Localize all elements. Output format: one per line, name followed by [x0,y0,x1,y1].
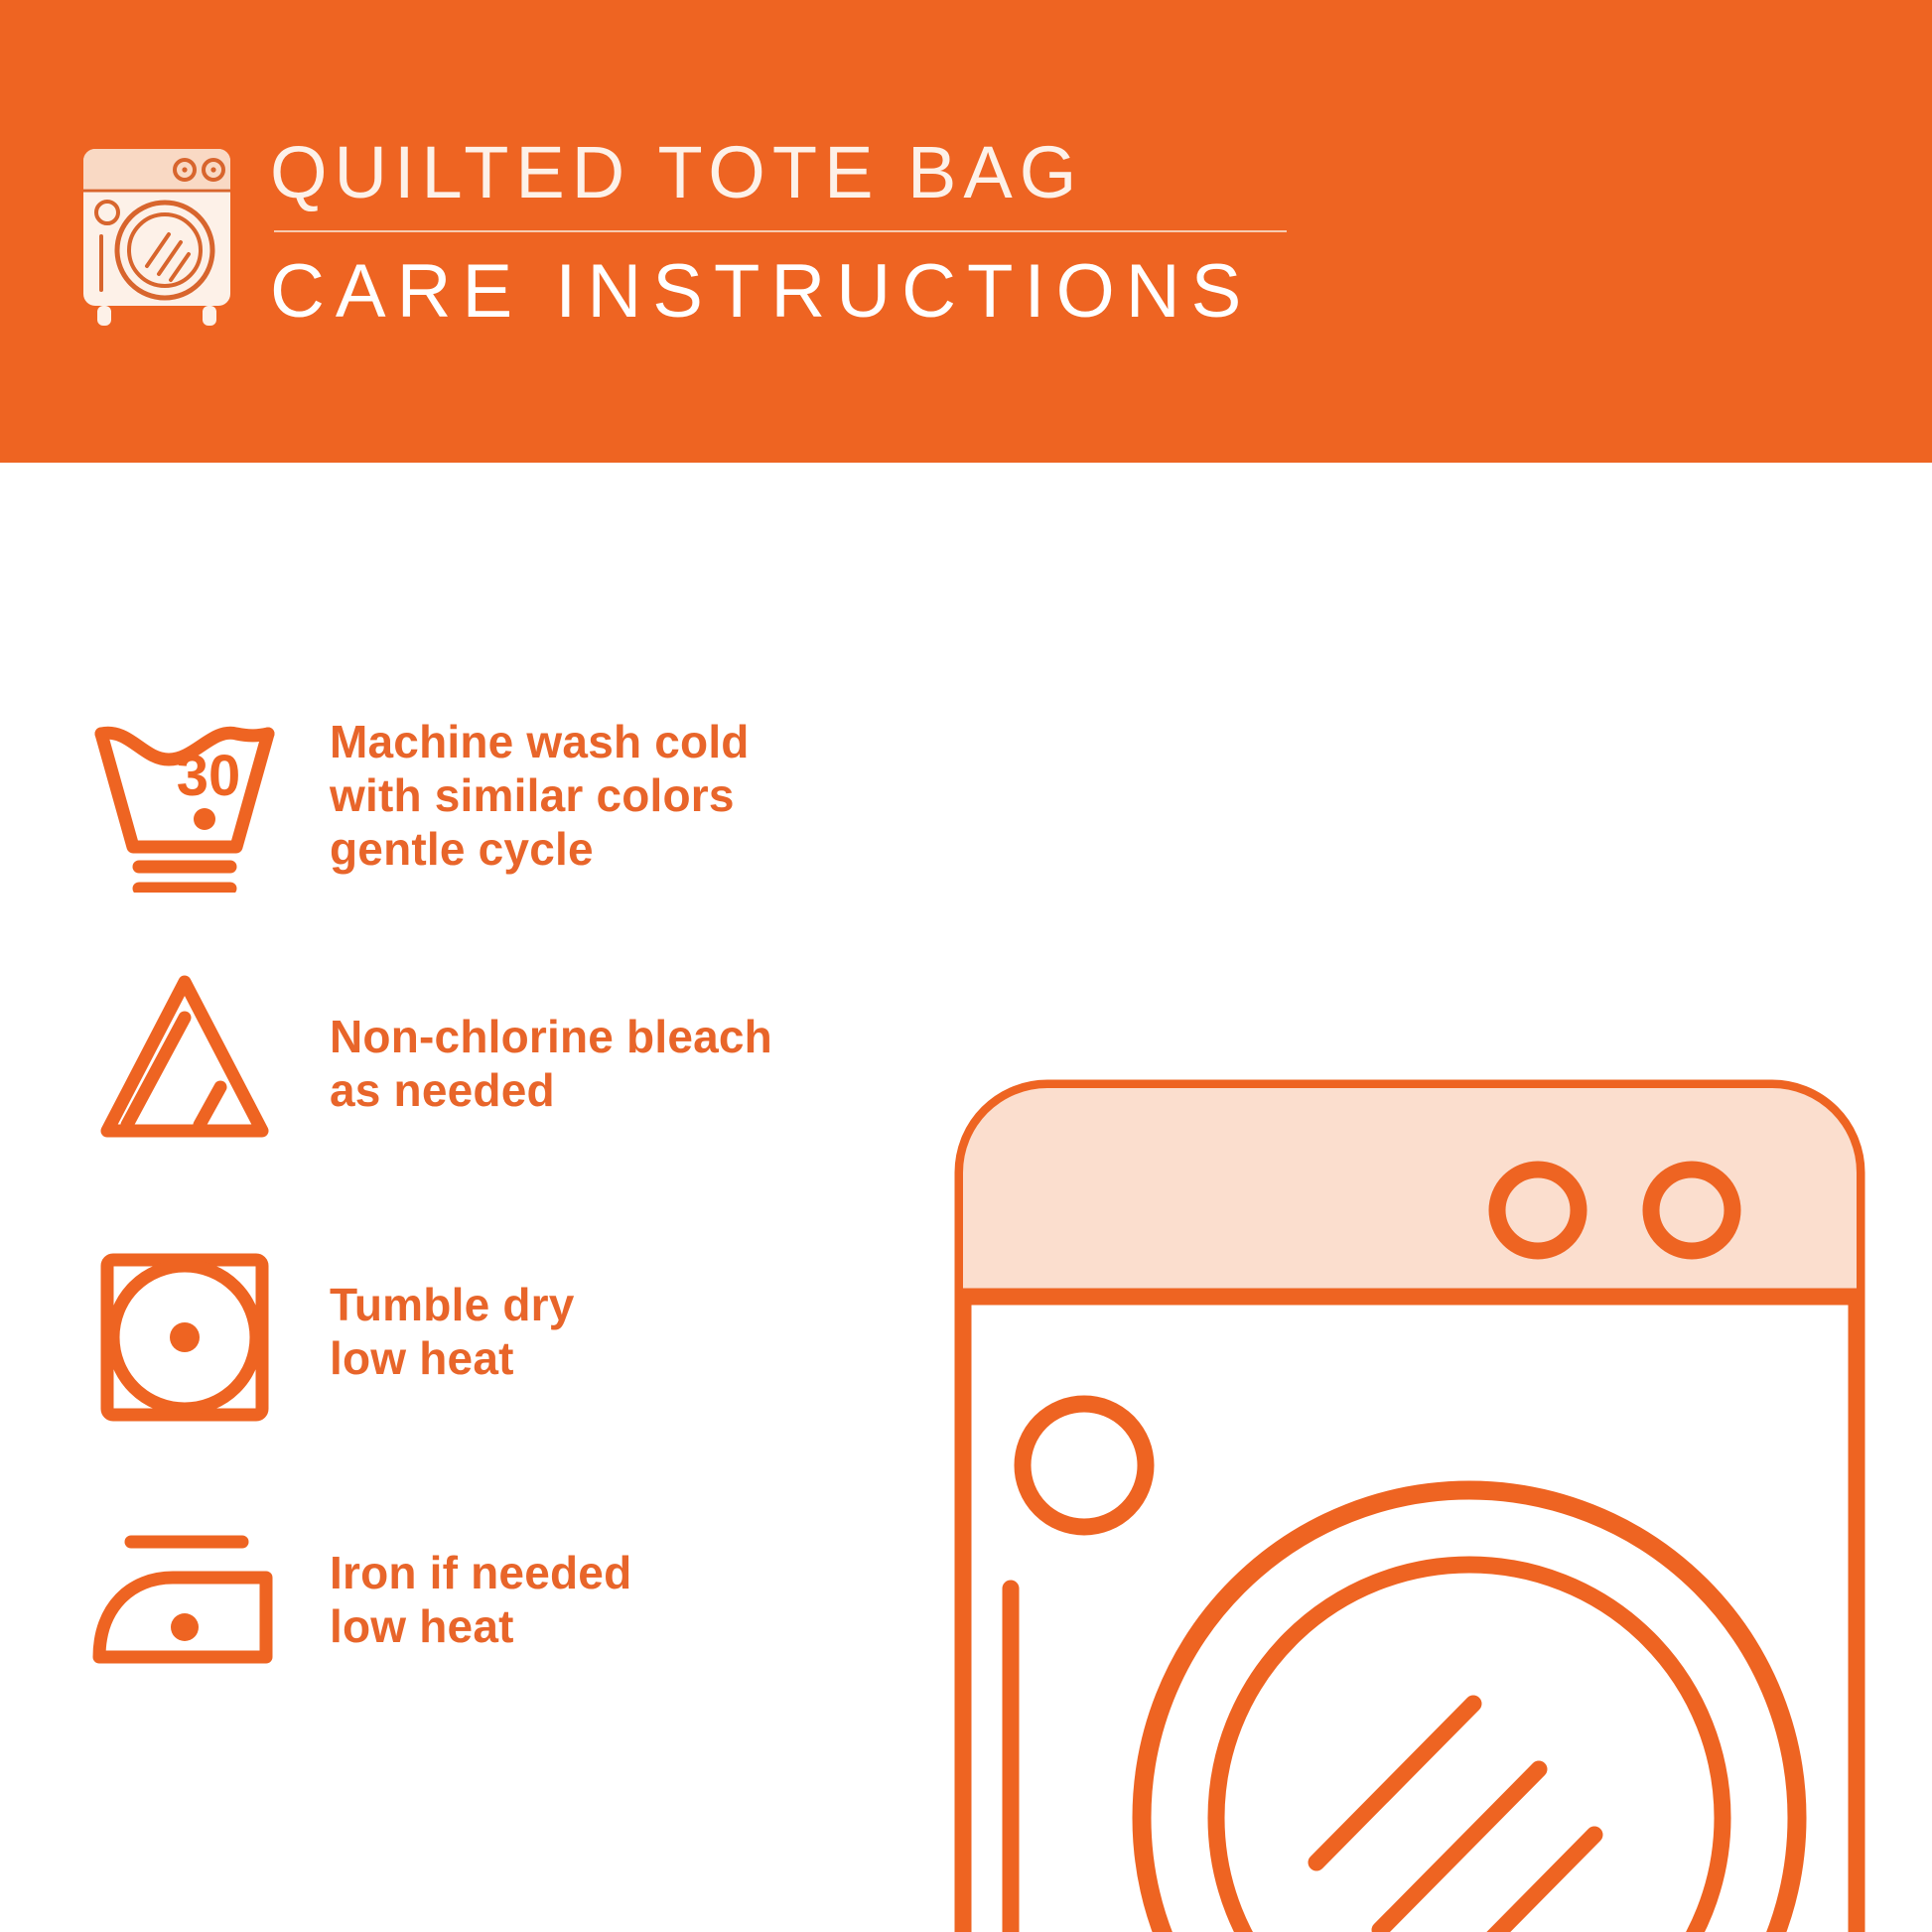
care-instruction-list: 30 Machine wash cold with similar colors… [87,661,911,1733]
page-title: QUILTED TOTE BAG [270,131,1287,214]
list-item: Tumble dry low heat [87,1197,911,1465]
title-divider [274,230,1287,232]
wash-temperature-value: 30 [177,744,241,808]
list-item: Non-chlorine bleach as needed [87,929,911,1197]
list-item-label: Tumble dry low heat [330,1278,575,1385]
header-banner: QUILTED TOTE BAG CARE INSTRUCTIONS [0,0,1932,463]
non-chlorine-bleach-triangle-icon [87,966,282,1161]
page-subtitle: CARE INSTRUCTIONS [270,250,1287,334]
body-area: 30 Machine wash cold with similar colors… [0,463,1932,1932]
header-title-group: QUILTED TOTE BAG CARE INSTRUCTIONS [270,129,1287,334]
list-item: 30 Machine wash cold with similar colors… [87,661,911,929]
washing-machine-illustration [953,1078,1866,1932]
list-item-label: Machine wash cold with similar colors ge… [330,715,750,876]
list-item-label: Non-chlorine bleach as needed [330,1010,772,1117]
list-item: Iron if needed low heat [87,1465,911,1733]
header-content: QUILTED TOTE BAG CARE INSTRUCTIONS [77,129,1287,334]
iron-low-heat-icon [87,1502,282,1697]
washing-machine-logo-icon [77,141,236,330]
tumble-dry-low-heat-icon [87,1234,282,1429]
care-instructions-infographic: QUILTED TOTE BAG CARE INSTRUCTIONS [0,0,1932,1932]
list-item-label: Iron if needed low heat [330,1546,631,1653]
wash-basin-30-gentle-icon: 30 [87,698,282,893]
